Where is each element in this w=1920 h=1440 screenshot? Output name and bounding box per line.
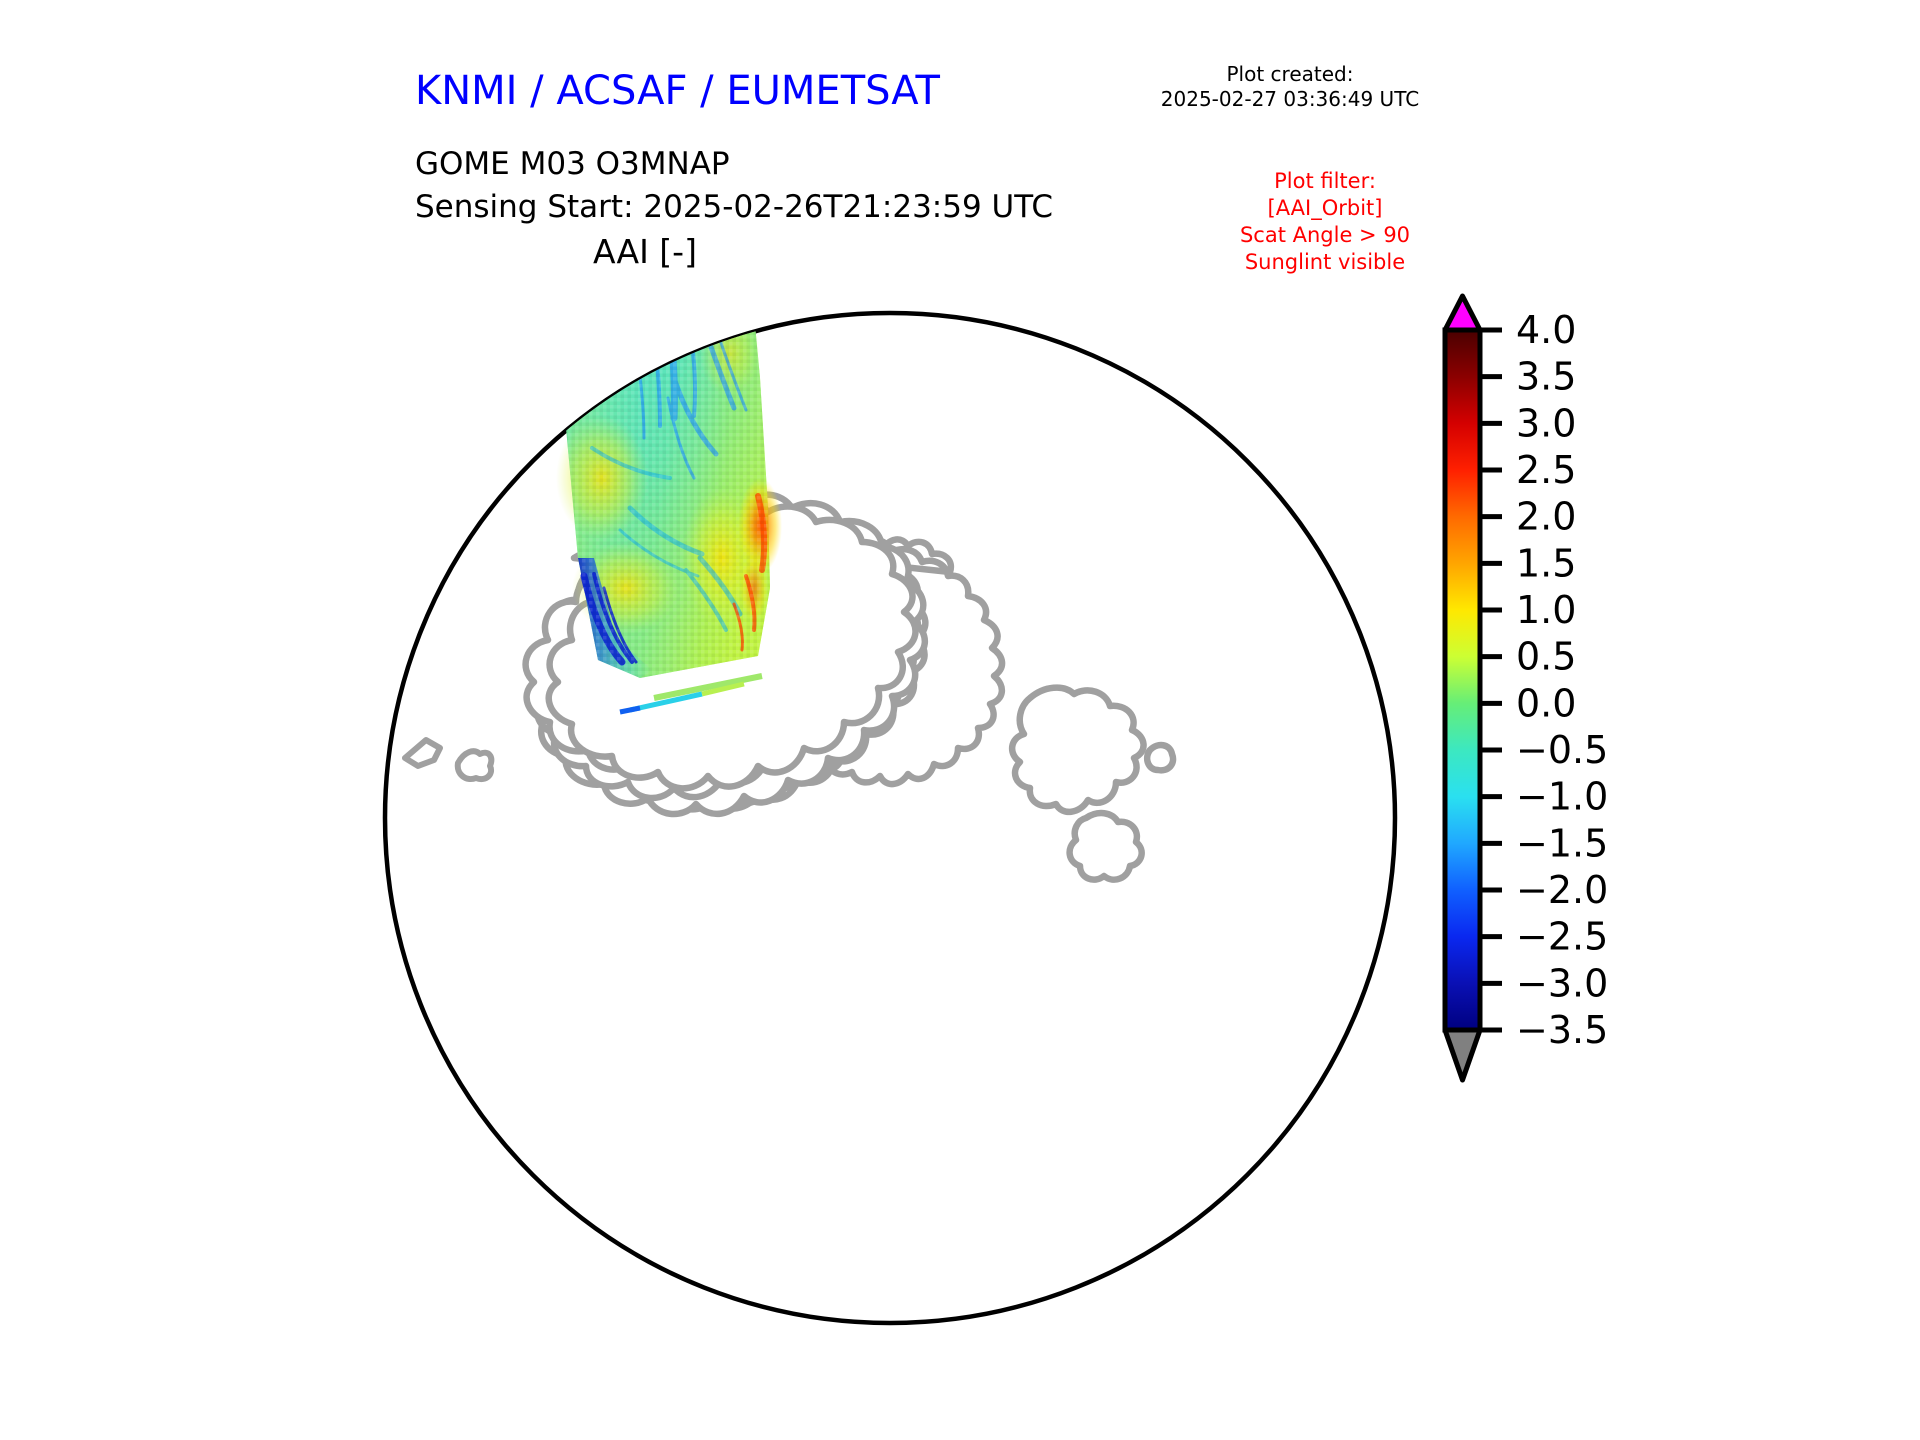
plot-created-timestamp: 2025-02-27 03:36:49 UTC: [1120, 87, 1460, 112]
island-small-west: [458, 751, 492, 779]
colorbar-tick-label: −0.5: [1516, 728, 1608, 772]
dataset-info-block: GOME M03 O3MNAP Sensing Start: 2025-02-2…: [415, 143, 1053, 229]
colorbar-gradient-bar: [1445, 330, 1480, 1030]
plot-created-block: Plot created: 2025-02-27 03:36:49 UTC: [1120, 62, 1460, 112]
colorbar-tick-label: 2.0: [1516, 495, 1576, 539]
colorbar: 4.03.53.02.52.01.51.00.50.0−0.5−1.0−1.5−…: [1430, 280, 1850, 1350]
colorbar-tick-label: 3.5: [1516, 355, 1576, 399]
colorbar-tick-label: −2.5: [1516, 915, 1608, 959]
organisation-title: KNMI / ACSAF / EUMETSAT: [415, 68, 940, 114]
colorbar-tick-label: 0.0: [1516, 681, 1576, 725]
colorbar-tick-label: 1.5: [1516, 541, 1576, 585]
polar-map: [330, 258, 1450, 1378]
island-tiny-southwest: [400, 1052, 421, 1071]
colorbar-over-arrow: [1445, 296, 1480, 330]
colorbar-tick-label: 2.5: [1516, 448, 1576, 492]
plot-created-label: Plot created:: [1120, 62, 1460, 87]
colorbar-tick-label: −1.5: [1516, 821, 1608, 865]
colorbar-tick-label: 1.0: [1516, 588, 1576, 632]
colorbar-tick-label: −3.0: [1516, 961, 1608, 1005]
plot-filter-title: Plot filter:: [1180, 168, 1470, 195]
colorbar-tick-label: 4.0: [1516, 308, 1576, 352]
colorbar-tick-label: −3.5: [1516, 1008, 1608, 1052]
sensing-start: Sensing Start: 2025-02-26T21:23:59 UTC: [415, 186, 1053, 229]
plot-filter-orbit: [AAI_Orbit]: [1180, 195, 1470, 222]
dataset-name: GOME M03 O3MNAP: [415, 143, 1053, 186]
colorbar-tick-label: −2.0: [1516, 868, 1608, 912]
colorbar-svg: 4.03.53.02.52.01.51.00.50.0−0.5−1.0−1.5−…: [1430, 280, 1850, 1350]
colorbar-ticks: 4.03.53.02.52.01.51.00.50.0−0.5−1.0−1.5−…: [1480, 308, 1608, 1052]
swath-pixel-texture: [562, 258, 770, 678]
colorbar-tick-label: −1.0: [1516, 775, 1608, 819]
colorbar-tick-label: 0.5: [1516, 635, 1576, 679]
colorbar-under-arrow: [1445, 1030, 1480, 1080]
colorbar-tick-label: 3.0: [1516, 401, 1576, 445]
globe-outline: [385, 313, 1395, 1323]
map-svg: [330, 258, 1450, 1378]
